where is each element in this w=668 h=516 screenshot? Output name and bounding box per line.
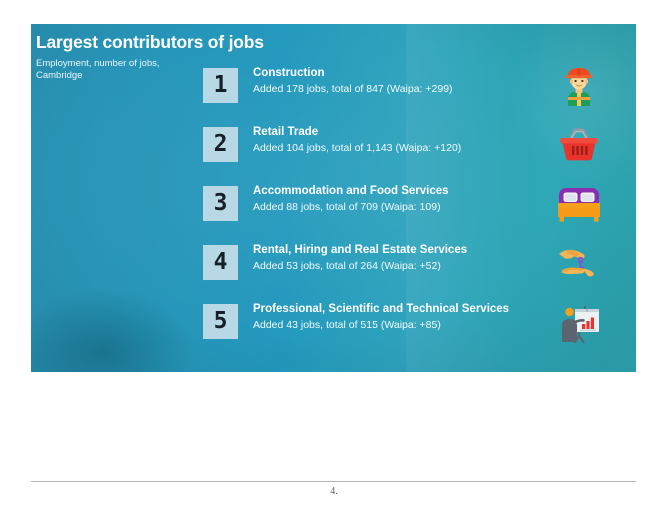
rank-badge-2: 2 (203, 127, 238, 162)
construction-worker-icon (555, 62, 603, 110)
slide-subtitle-line-1: Employment, number of jobs, (36, 58, 160, 69)
rank-badge-3: 3 (203, 186, 238, 221)
icon-slot-4 (541, 239, 621, 298)
icon-slot-3 (541, 180, 621, 239)
bed-icon (555, 180, 603, 228)
industry-name-4: Rental, Hiring and Real Estate Services (253, 242, 467, 258)
rank-text-5: Professional, Scientific and Technical S… (253, 301, 509, 332)
page-number: 4. (0, 486, 668, 497)
slide-panel: Largest contributors of jobs Employment,… (31, 24, 636, 372)
footer-divider (31, 481, 636, 482)
page-title: Largest contributors of jobs (36, 32, 296, 52)
industry-name-3: Accommodation and Food Services (253, 183, 449, 199)
industry-detail-3: Added 88 jobs, total of 709 (Waipa: 109) (253, 200, 449, 214)
industry-icons-column (541, 62, 621, 357)
rank-badge-5: 5 (203, 304, 238, 339)
house-keys-handover-icon (555, 239, 603, 287)
rank-badge-4: 4 (203, 245, 238, 280)
industry-detail-1: Added 178 jobs, total of 847 (Waipa: +29… (253, 82, 453, 96)
shopping-basket-icon (555, 121, 603, 169)
rank-badge-1: 1 (203, 68, 238, 103)
industry-detail-5: Added 43 jobs, total of 515 (Waipa: +85) (253, 318, 509, 332)
industry-name-1: Construction (253, 65, 453, 81)
rank-text-4: Rental, Hiring and Real Estate Services … (253, 242, 467, 273)
rank-text-2: Retail Trade Added 104 jobs, total of 1,… (253, 124, 461, 155)
rank-text-3: Accommodation and Food Services Added 88… (253, 183, 449, 214)
industry-detail-2: Added 104 jobs, total of 1,143 (Waipa: +… (253, 141, 461, 155)
slide-subtitle-line-2: Cambridge (36, 70, 82, 81)
presentation-chart-icon (555, 298, 603, 346)
icon-slot-2 (541, 121, 621, 180)
industry-name-5: Professional, Scientific and Technical S… (253, 301, 509, 317)
industry-name-2: Retail Trade (253, 124, 461, 140)
rank-text-1: Construction Added 178 jobs, total of 84… (253, 65, 453, 96)
icon-slot-1 (541, 62, 621, 121)
industry-detail-4: Added 53 jobs, total of 264 (Waipa: +52) (253, 259, 467, 273)
icon-slot-5 (541, 298, 621, 357)
